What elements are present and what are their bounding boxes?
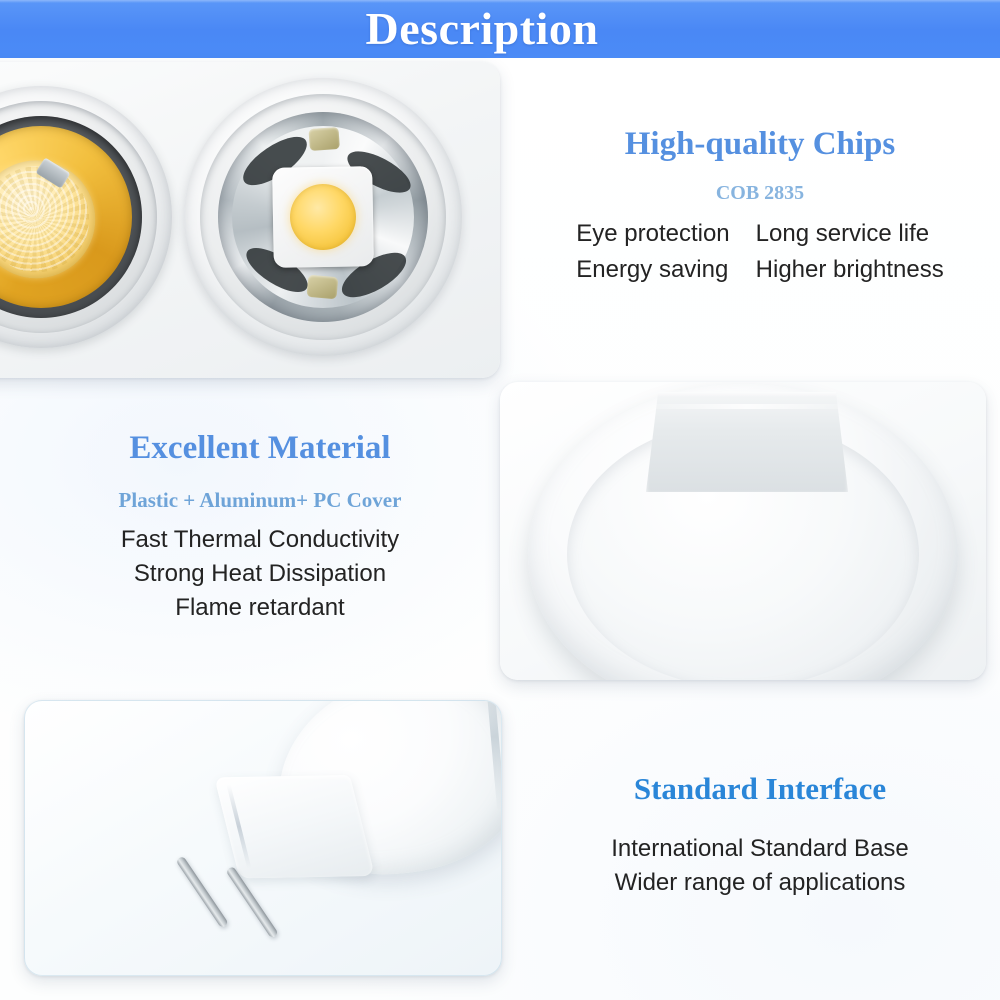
section-heading: Excellent Material [30, 430, 490, 466]
feature-item: Energy saving [576, 253, 729, 287]
silver-reflector [218, 112, 428, 322]
photo-led-chip-closeup [0, 62, 500, 378]
feature-list: International Standard Base Wider range … [530, 832, 990, 900]
feature-item: Long service life [756, 217, 944, 251]
bulb-base-neck [214, 775, 375, 878]
section-heading: High-quality Chips [520, 126, 1000, 162]
solder-pad [308, 127, 339, 151]
section-standard-interface: Standard Interface International Standar… [530, 772, 990, 900]
feature-item: Strong Heat Dissipation [30, 557, 490, 591]
section-subtitle: COB 2835 [520, 182, 1000, 205]
photo-bulb-body-back [500, 382, 986, 680]
feature-grid: Eye protection Long service life Energy … [520, 217, 1000, 287]
section-heading: Standard Interface [530, 772, 990, 806]
feature-item: Higher brightness [756, 253, 944, 287]
mr16-bulb [184, 700, 502, 946]
feature-item: Eye protection [576, 217, 729, 251]
cob-led-chip [272, 166, 374, 268]
feature-item: Fast Thermal Conductivity [30, 523, 490, 557]
section-high-quality-chips: High-quality Chips COB 2835 Eye protecti… [520, 126, 1000, 287]
solder-pad [306, 275, 338, 300]
feature-list: Fast Thermal Conductivity Strong Heat Di… [30, 523, 490, 625]
bulb-with-cob-chip [184, 78, 462, 356]
feature-item: International Standard Base [530, 832, 990, 866]
page-title: Description [366, 6, 599, 52]
gu53-pin [176, 855, 229, 928]
description-banner: Description [0, 0, 1000, 58]
photo-bulb-base-pins [24, 700, 502, 976]
heat-sink-fin [646, 392, 848, 492]
bulb-with-diffuser-lens [0, 86, 172, 348]
feature-item: Wider range of applications [530, 866, 990, 900]
feature-item: Flame retardant [30, 591, 490, 625]
section-excellent-material: Excellent Material Plastic + Aluminum+ P… [30, 430, 490, 626]
section-subtitle: Plastic + Aluminum+ PC Cover [30, 488, 490, 513]
